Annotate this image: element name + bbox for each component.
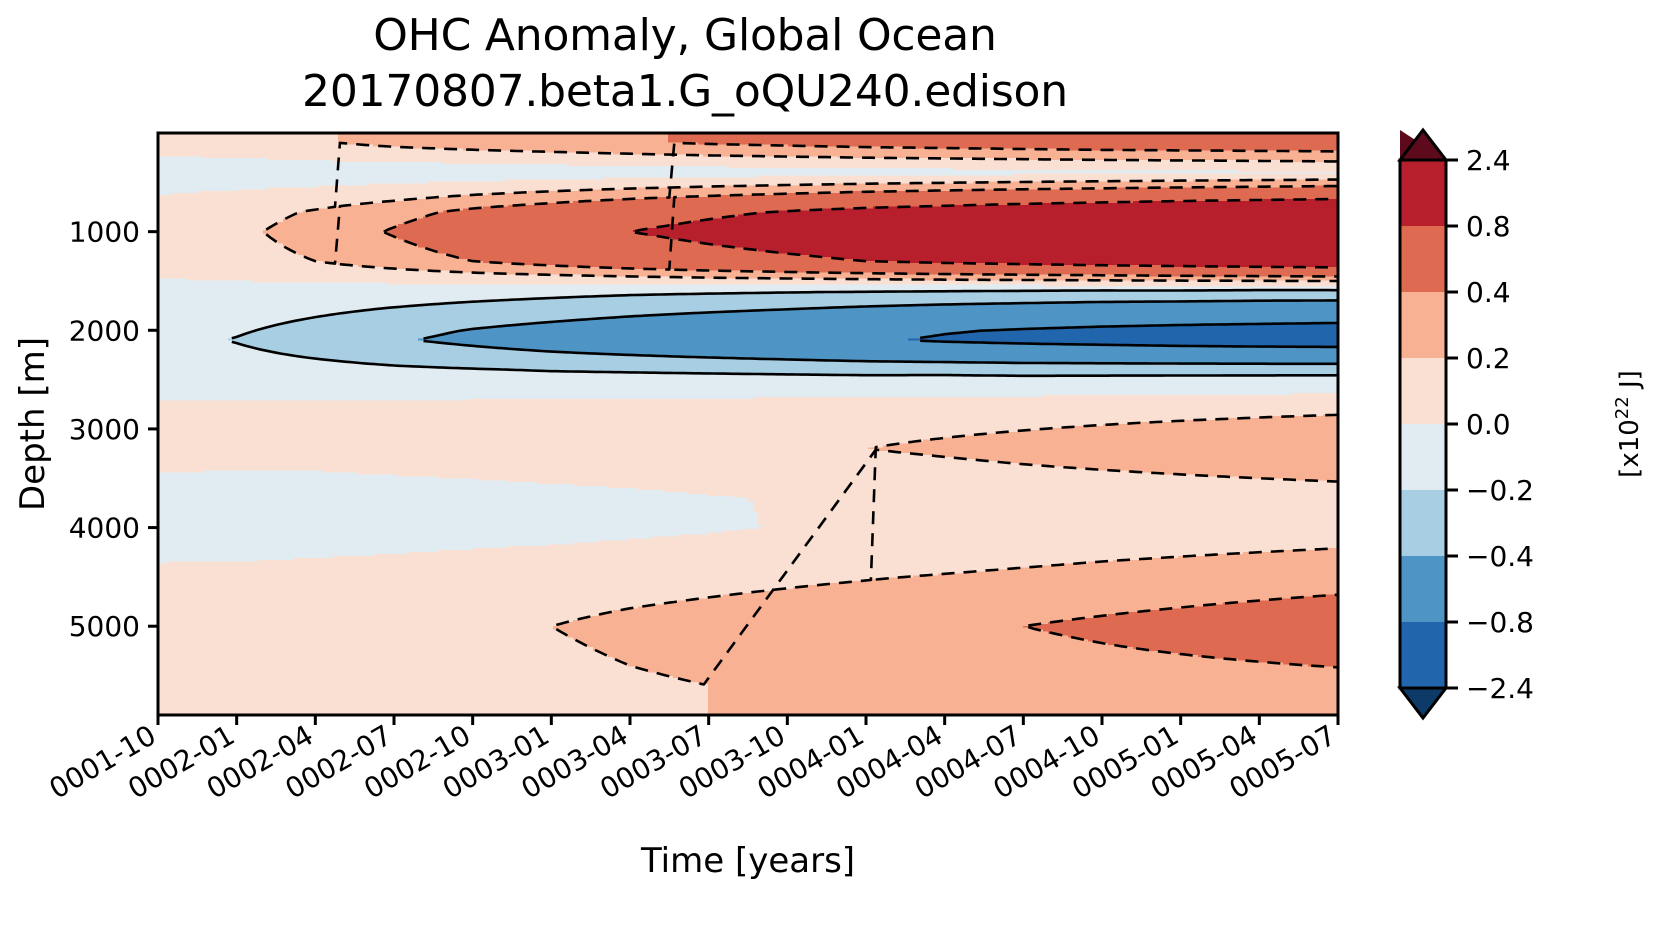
- x-axis-label: Time [years]: [640, 841, 855, 881]
- colorbar-tick-label: 0.8: [1466, 210, 1511, 243]
- colorbar-band: [1400, 292, 1446, 359]
- colorbar-tick-label: −0.8: [1466, 606, 1534, 639]
- cb-label-tail: J]: [1615, 370, 1645, 396]
- colorbar-band: [1400, 358, 1446, 425]
- colorbar-label: [x1022 J]: [1612, 370, 1646, 478]
- y-tick-label: 1000: [69, 216, 140, 249]
- colorbar[interactable]: 2.40.80.40.20.0−0.2−0.4−0.8−2.4: [1400, 130, 1534, 718]
- colorbar-tick-label: 0.0: [1466, 408, 1511, 441]
- colorbar-band: [1400, 160, 1446, 227]
- colorbar-band: [1400, 424, 1446, 491]
- x-axis: 0001-100002-010002-040002-070002-100003-…: [44, 715, 1342, 806]
- y-axis-label: Depth [m]: [13, 337, 53, 511]
- contour-fill-field: [158, 133, 1339, 715]
- colorbar-tick-label: −0.4: [1466, 540, 1534, 573]
- colorbar-band: [1400, 490, 1446, 557]
- y-axis: 10002000300040005000: [69, 216, 158, 644]
- colorbar-band: [1400, 556, 1446, 623]
- colorbar-tick-label: −0.2: [1466, 474, 1534, 507]
- colorbar-tick-label: −2.4: [1466, 672, 1534, 705]
- ohc-anomaly-contour-plot: 10002000300040005000 0001-100002-010002-…: [0, 0, 1664, 933]
- y-tick-label: 5000: [69, 610, 140, 643]
- colorbar-extend-bottom: [1400, 688, 1446, 718]
- y-tick-label: 4000: [69, 512, 140, 545]
- y-tick-label: 3000: [69, 413, 140, 446]
- y-tick-label: 2000: [69, 314, 140, 347]
- colorbar-band: [1400, 622, 1446, 689]
- cb-label-main: [x10: [1615, 419, 1645, 478]
- colorbar-tick-label: 0.2: [1466, 342, 1511, 375]
- colorbar-band: [1400, 226, 1446, 293]
- colorbar-tick-label: 0.4: [1466, 276, 1511, 309]
- colorbar-tick-label: 2.4: [1466, 144, 1511, 177]
